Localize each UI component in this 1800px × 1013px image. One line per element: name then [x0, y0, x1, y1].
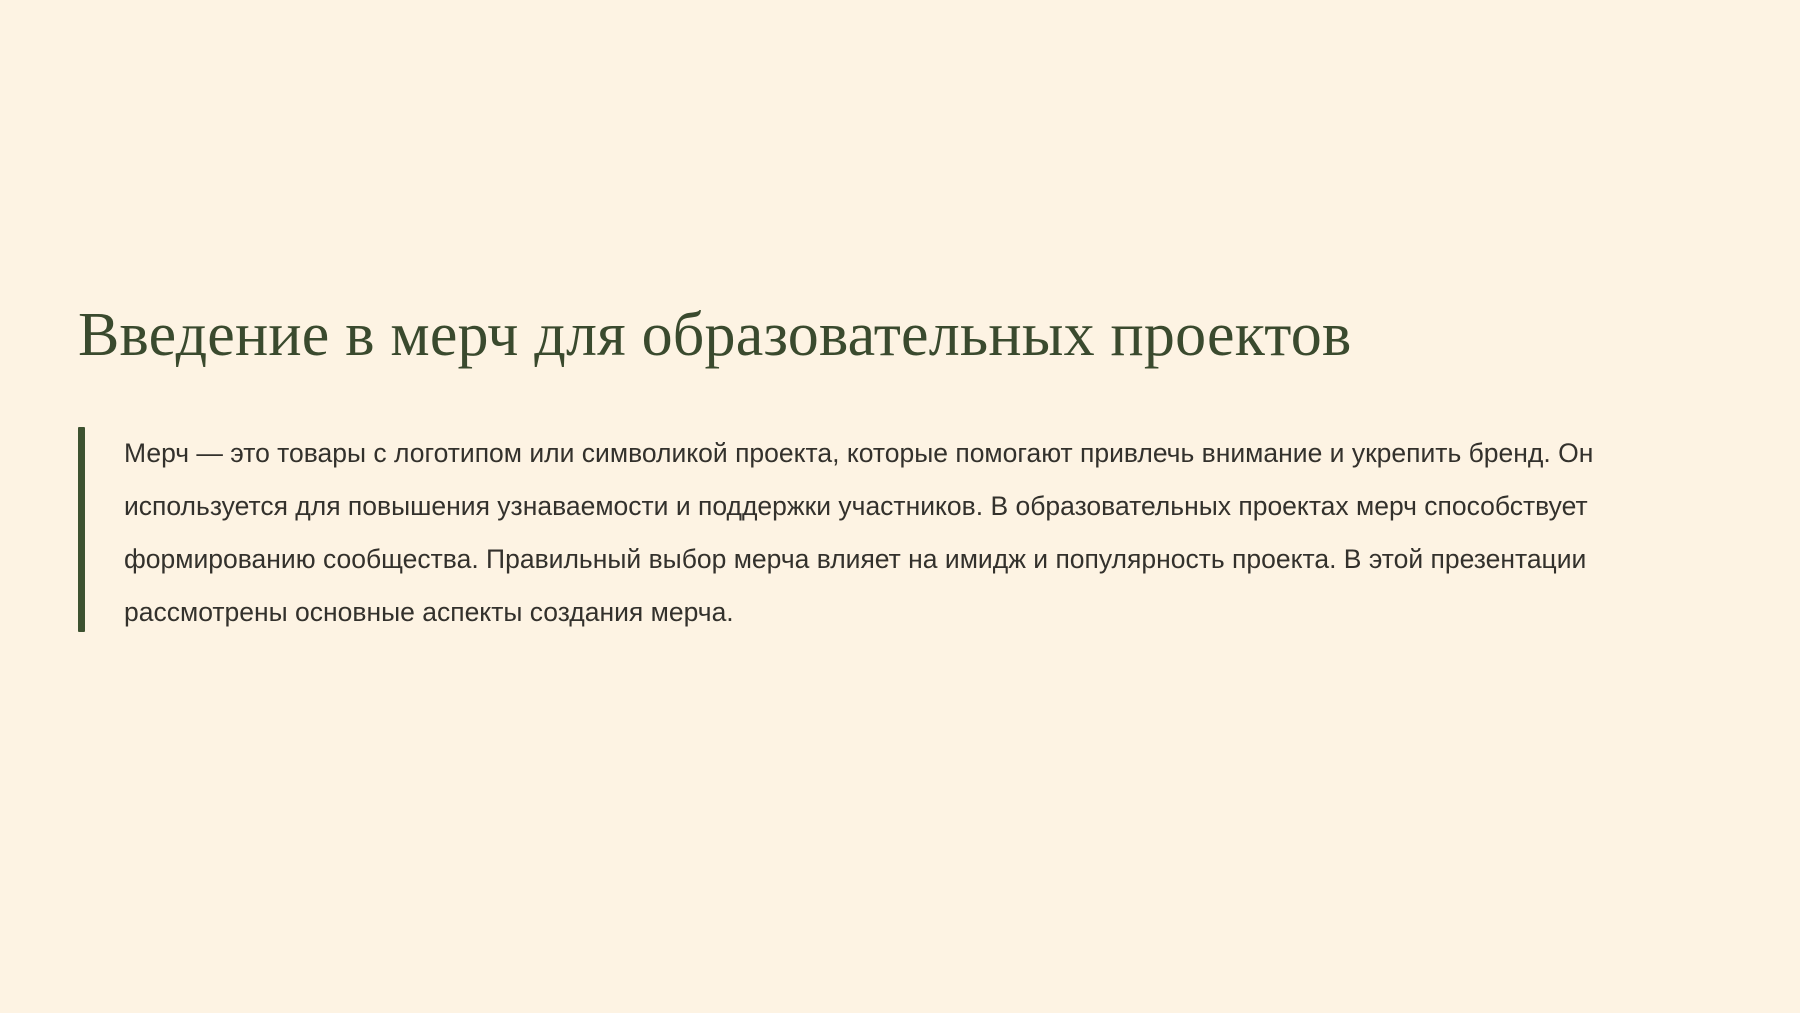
slide-body-block: Мерч — это товары с логотипом или символ…	[78, 427, 1738, 639]
slide-content: Введение в мерч для образовательных прое…	[78, 300, 1738, 639]
presentation-slide: Введение в мерч для образовательных прое…	[0, 0, 1800, 1013]
accent-bar	[78, 427, 85, 632]
slide-body-paragraph: Мерч — это товары с логотипом или символ…	[124, 427, 1738, 639]
slide-title: Введение в мерч для образовательных прое…	[78, 300, 1738, 371]
